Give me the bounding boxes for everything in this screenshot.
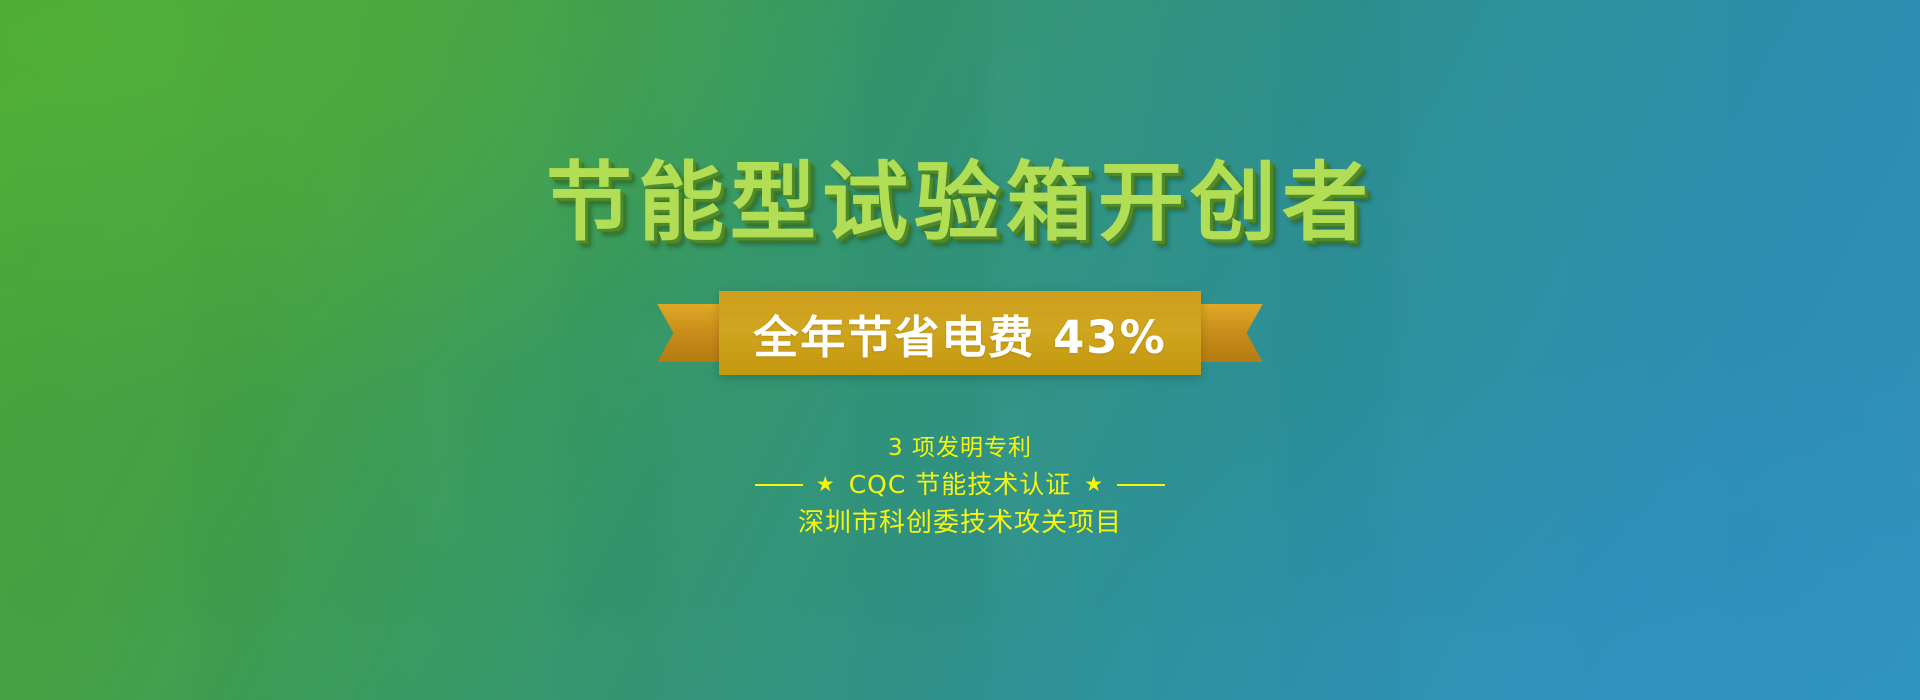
- star-left-icon: ★: [816, 474, 836, 495]
- rule-left-icon: [755, 484, 803, 486]
- certification-line: ★ CQC 节能技术认证 ★: [755, 466, 1165, 504]
- credentials-list: 3 项发明专利 ★ CQC 节能技术认证 ★ 深圳市科创委技术攻关项目: [755, 431, 1165, 543]
- certification-label: CQC 节能技术认证: [849, 466, 1072, 504]
- savings-ribbon: 全年节省电费 43%: [657, 291, 1262, 375]
- ribbon-label: 全年节省电费 43%: [753, 301, 1166, 366]
- star-right-icon: ★: [1084, 474, 1104, 495]
- project-line: 深圳市科创委技术攻关项目: [798, 504, 1122, 544]
- ribbon-tail-right-icon: [1201, 304, 1263, 362]
- hero-banner: 节能型试验箱开创者 全年节省电费 43% 3 项发明专利 ★ CQC 节能技术认…: [0, 0, 1920, 700]
- ribbon-tail-left-icon: [657, 304, 719, 362]
- banner-content: 节能型试验箱开创者 全年节省电费 43% 3 项发明专利 ★ CQC 节能技术认…: [0, 0, 1920, 700]
- patents-line: 3 项发明专利: [888, 431, 1032, 466]
- ribbon-body: 全年节省电费 43%: [719, 291, 1200, 375]
- headline-title: 节能型试验箱开创者: [546, 160, 1374, 246]
- rule-right-icon: [1117, 484, 1165, 486]
